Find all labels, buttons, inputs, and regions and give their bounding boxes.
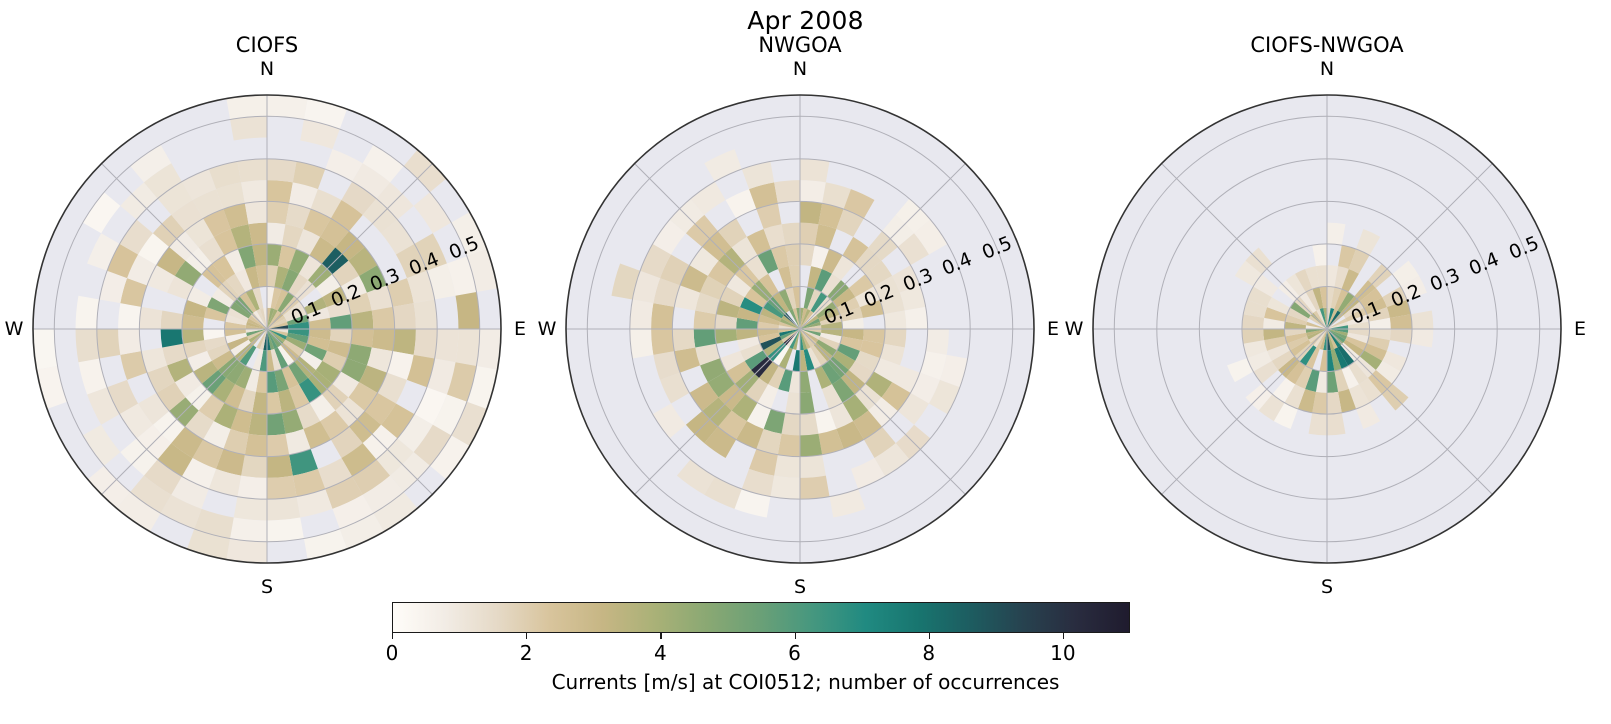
histogram-cell bbox=[630, 329, 654, 359]
compass-label-south: S bbox=[1321, 576, 1333, 598]
histogram-cell bbox=[245, 201, 267, 224]
histogram-cell bbox=[76, 329, 100, 362]
histogram-cell bbox=[774, 455, 800, 478]
histogram-cell bbox=[267, 455, 293, 478]
colorbar-tick bbox=[1063, 633, 1064, 639]
histogram-cell bbox=[267, 476, 297, 500]
histogram-cell bbox=[234, 497, 267, 521]
histogram-cell bbox=[230, 518, 267, 542]
colorbar-tick bbox=[929, 633, 930, 639]
histogram-cell bbox=[139, 307, 162, 329]
polar-grid bbox=[566, 95, 1034, 563]
colorbar-label: Currents [m/s] at COI0512; number of occ… bbox=[0, 670, 1611, 694]
histogram-cell bbox=[393, 303, 416, 329]
histogram-cell bbox=[778, 434, 800, 457]
histogram-cell bbox=[393, 329, 416, 355]
compass-label-east: E bbox=[1047, 318, 1059, 340]
histogram-cell bbox=[118, 329, 141, 355]
histogram-cell bbox=[241, 180, 267, 203]
histogram-cell bbox=[456, 329, 480, 366]
compass-label-north: N bbox=[260, 58, 274, 80]
polar-plot-ciofs: NESW0.10.20.30.40.5 bbox=[7, 0, 527, 600]
colorbar-tick-label: 4 bbox=[654, 641, 667, 665]
colorbar-tick bbox=[660, 633, 661, 639]
compass-label-south: S bbox=[261, 576, 273, 598]
histogram-cell bbox=[267, 434, 289, 457]
histogram-cell bbox=[97, 329, 121, 359]
colorbar-tick-label: 2 bbox=[520, 641, 533, 665]
histogram-cell bbox=[237, 476, 267, 500]
histogram-cell bbox=[267, 95, 308, 120]
compass-label-north: N bbox=[1320, 58, 1334, 80]
histogram-cell bbox=[800, 455, 826, 478]
colorbar-tick-label: 10 bbox=[1050, 641, 1075, 665]
polar-panel-nwgoa: NWGOA NESW0.10.20.30.40.5 bbox=[540, 0, 1060, 600]
histogram-cell bbox=[414, 299, 438, 329]
histogram-cell bbox=[651, 329, 674, 355]
histogram-cell bbox=[456, 292, 480, 329]
colorbar-tick bbox=[526, 633, 527, 639]
compass-label-east: E bbox=[1574, 318, 1586, 340]
histogram-cell bbox=[230, 116, 267, 140]
histogram-cell bbox=[245, 434, 267, 457]
polar-panel-ciofs: CIOFS NESW0.10.20.30.40.5 bbox=[7, 0, 527, 600]
colorbar-tick bbox=[795, 633, 796, 639]
polar-axes-ciofs bbox=[7, 0, 527, 600]
colorbar-gradient bbox=[392, 602, 1130, 633]
compass-label-north: N bbox=[793, 58, 807, 80]
histogram-cell bbox=[905, 307, 928, 329]
histogram-cell bbox=[630, 299, 654, 329]
polar-panel-ciofs-nwgoa: CIOFS-NWGOA NESW0.10.20.30.40.5 bbox=[1067, 0, 1587, 600]
histogram-cell bbox=[800, 434, 822, 457]
histogram-cell bbox=[33, 329, 58, 370]
polar-axes-nwgoa bbox=[540, 0, 1060, 600]
colorbar-tick-label: 0 bbox=[386, 641, 399, 665]
histogram-cell bbox=[774, 180, 800, 203]
histogram-cell bbox=[672, 329, 695, 351]
histogram-cell bbox=[267, 180, 293, 203]
histogram-cell bbox=[267, 159, 297, 183]
compass-label-east: E bbox=[514, 318, 526, 340]
histogram-cell bbox=[800, 476, 830, 500]
histogram-cell bbox=[267, 518, 304, 542]
histogram-cell bbox=[372, 329, 395, 351]
histogram-cell bbox=[435, 329, 459, 362]
histogram-cell bbox=[926, 329, 949, 355]
polar-grid bbox=[1093, 95, 1561, 563]
histogram-cell bbox=[800, 201, 822, 224]
colorbar-tick bbox=[392, 633, 393, 639]
polar-plot-nwgoa: NESW0.10.20.30.40.5 bbox=[540, 0, 1060, 600]
polar-grid bbox=[33, 95, 501, 563]
histogram-cell bbox=[800, 159, 830, 183]
histogram-cell bbox=[651, 303, 674, 329]
compass-label-west: W bbox=[538, 318, 557, 340]
histogram-cell bbox=[770, 476, 800, 500]
compass-label-south: S bbox=[794, 576, 806, 598]
histogram-cell bbox=[237, 159, 267, 183]
colorbar-tick-label: 6 bbox=[788, 641, 801, 665]
histogram-cell bbox=[267, 497, 300, 521]
colorbar-tick-label: 8 bbox=[922, 641, 935, 665]
histogram-cell bbox=[372, 307, 395, 329]
histogram-cell bbox=[800, 180, 826, 203]
histogram-cell bbox=[226, 95, 267, 120]
histogram-cell bbox=[476, 329, 501, 370]
histogram-cell bbox=[267, 201, 289, 224]
histogram-cell bbox=[76, 296, 100, 329]
figure-canvas: Apr 2008 CIOFS NESW0.10.20.30.40.5 NWGOA… bbox=[0, 0, 1611, 724]
colorbar: 0246810 bbox=[392, 602, 1130, 633]
polar-axes-ciofs-nwgoa bbox=[1067, 0, 1587, 600]
histogram-cell bbox=[241, 455, 267, 478]
compass-label-west: W bbox=[5, 318, 24, 340]
histogram-cell bbox=[414, 329, 438, 359]
polar-plot-ciofs-nwgoa: NESW0.10.20.30.40.5 bbox=[1067, 0, 1587, 600]
histogram-cell bbox=[226, 538, 267, 563]
histogram-cell bbox=[118, 303, 141, 329]
compass-label-west: W bbox=[1065, 318, 1084, 340]
